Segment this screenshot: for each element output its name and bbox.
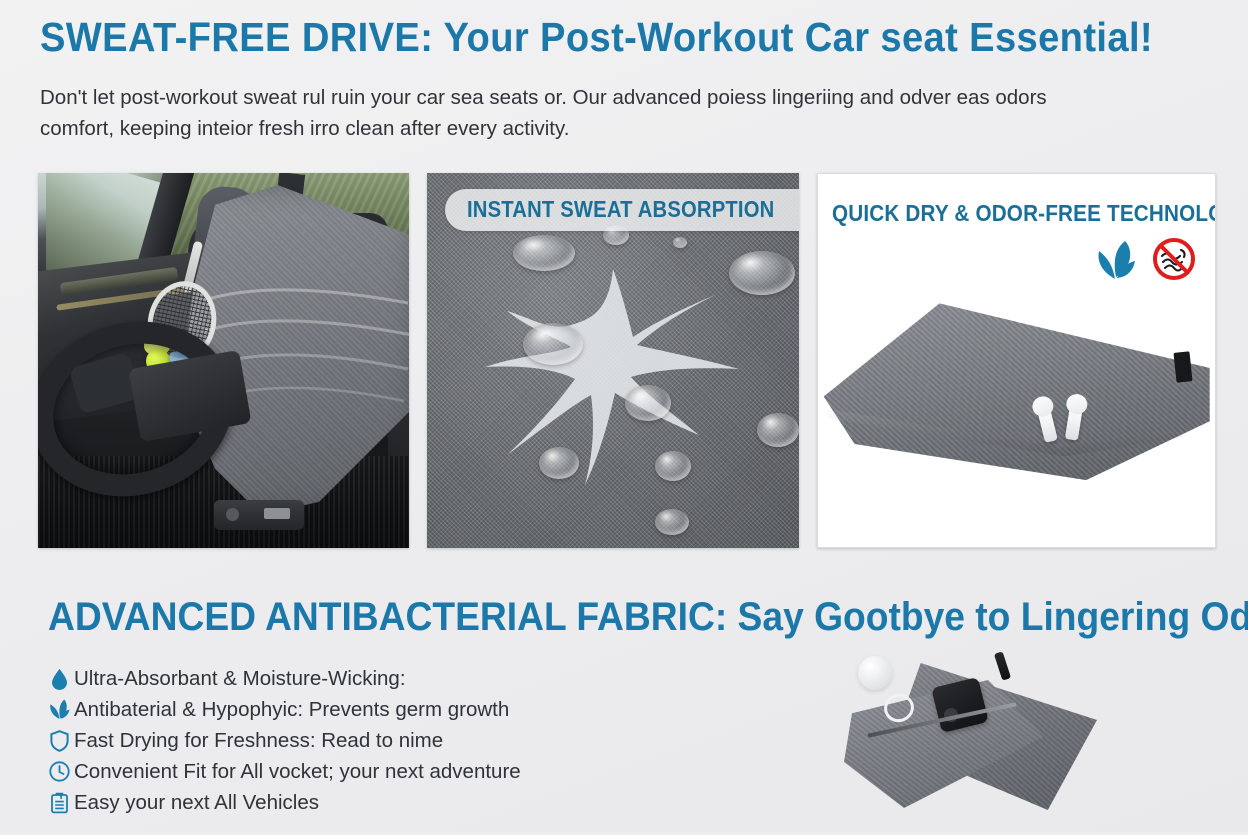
subcopy-line-2: comfort, keeping inteior fresh irro clea…: [40, 113, 1200, 144]
folded-towel-image: [818, 174, 1215, 547]
panel-sweat-absorption: INSTANT SWEAT ABSORPTION: [427, 173, 798, 548]
folded-towel: [824, 292, 1210, 482]
list-item: Ultra-Absorbant & Moisture-Wicking:: [44, 664, 664, 693]
clipboard-icon: [44, 792, 74, 814]
panel-label-sweat-absorption: INSTANT SWEAT ABSORPTION: [445, 189, 798, 231]
leaf-icon: [1093, 237, 1137, 281]
water-droplet: [757, 413, 798, 447]
water-droplet: [513, 235, 575, 271]
list-item: Convenient Fit for All vocket; your next…: [44, 757, 664, 786]
panel-badge-icons: [1093, 236, 1197, 282]
water-droplet: [655, 509, 689, 535]
section-title: ADVANCED ANTIBACTERIAL FABRIC: Say Gootb…: [48, 594, 1248, 640]
list-item-label: Antibaterial & Hypophyic: Prevents germ …: [74, 698, 509, 722]
list-item-label: Fast Drying for Freshness: Read to nime: [74, 729, 443, 753]
page-subcopy: Don't let post-workout sweat rul ruin yo…: [40, 82, 1200, 144]
section-title-text: ADVANCED ANTIBACTERIAL FABRIC: Say Gootb…: [48, 595, 1248, 639]
shield-icon: [44, 730, 74, 752]
list-item-label: Ultra-Absorbant & Moisture-Wicking:: [74, 667, 406, 691]
clock-icon: [44, 761, 74, 782]
panel-label-text: INSTANT SWEAT ABSORPTION: [467, 196, 774, 223]
page-title-text: SWEAT-FREE DRIVE: Your Post-Workout Car …: [40, 14, 1153, 60]
subcopy-line-1: Don't let post-workout sweat rul ruin yo…: [40, 82, 1200, 113]
page-title: SWEAT-FREE DRIVE: Your Post-Workout Car …: [40, 14, 1137, 60]
seat-control-panel: [214, 500, 304, 530]
product-image-folded-towel: [840, 650, 1100, 835]
leaf-icon: [44, 699, 74, 720]
list-item-label: Convenient Fit for All vocket; your next…: [74, 760, 521, 784]
panel-quick-dry: QUICK DRY & ODOR-FREE TECHNOLOGY: [817, 173, 1216, 548]
zipper-pull: [994, 651, 1011, 680]
water-drop-icon: [44, 668, 74, 690]
list-item-label: Easy your next All Vehicles: [74, 791, 319, 815]
water-droplet: [523, 323, 583, 365]
feature-panels: INSTANT SWEAT ABSORPTION QUICK DRY & ODO…: [38, 173, 1216, 548]
white-round-container: [858, 656, 892, 690]
panel-label-text: QUICK DRY & ODOR-FREE TECHNOLOGY: [832, 200, 1216, 227]
list-item: Fast Drying for Freshness: Read to nime: [44, 726, 664, 755]
towel-brand-tag: [1173, 351, 1192, 383]
list-item: Easy your next All Vehicles: [44, 788, 664, 817]
poster-root: SWEAT-FREE DRIVE: Your Post-Workout Car …: [0, 0, 1248, 832]
feature-list: Ultra-Absorbant & Moisture-Wicking: Anti…: [44, 664, 664, 819]
list-item: Antibaterial & Hypophyic: Prevents germ …: [44, 695, 664, 724]
no-odor-icon: [1151, 236, 1197, 282]
fabric-macro-image: INSTANT SWEAT ABSORPTION: [427, 173, 798, 548]
water-splash-shape: [463, 259, 753, 489]
panel-car-interior: [38, 173, 409, 548]
panel-label-quick-dry: QUICK DRY & ODOR-FREE TECHNOLOGY: [832, 200, 1216, 227]
water-droplet: [729, 251, 795, 295]
water-droplet: [673, 237, 687, 248]
car-interior-image: [38, 173, 409, 548]
